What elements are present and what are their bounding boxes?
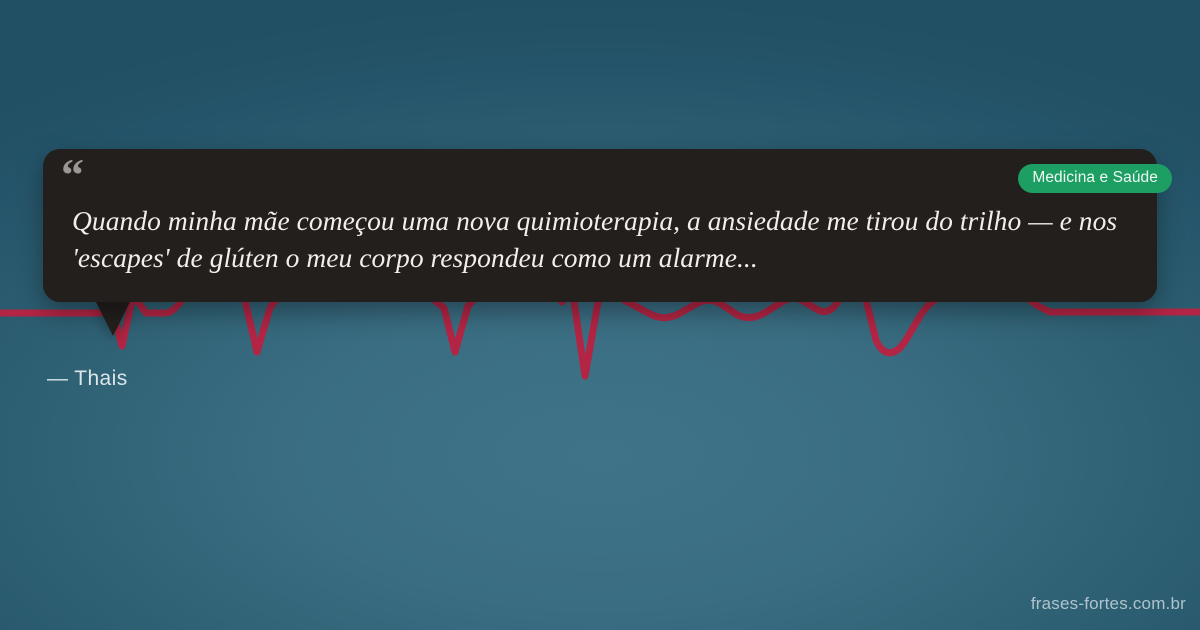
quote-image-canvas: “ Medicina e Saúde Quando minha mãe come… (0, 0, 1200, 630)
speech-bubble-tail (95, 300, 131, 336)
quote-mark-icon: “ (61, 152, 85, 198)
category-badge[interactable]: Medicina e Saúde (1018, 164, 1172, 193)
quote-attribution: — Thais (47, 367, 128, 391)
quote-text: Quando minha mãe começou uma nova quimio… (72, 202, 1118, 276)
site-watermark: frases-fortes.com.br (1031, 594, 1186, 614)
